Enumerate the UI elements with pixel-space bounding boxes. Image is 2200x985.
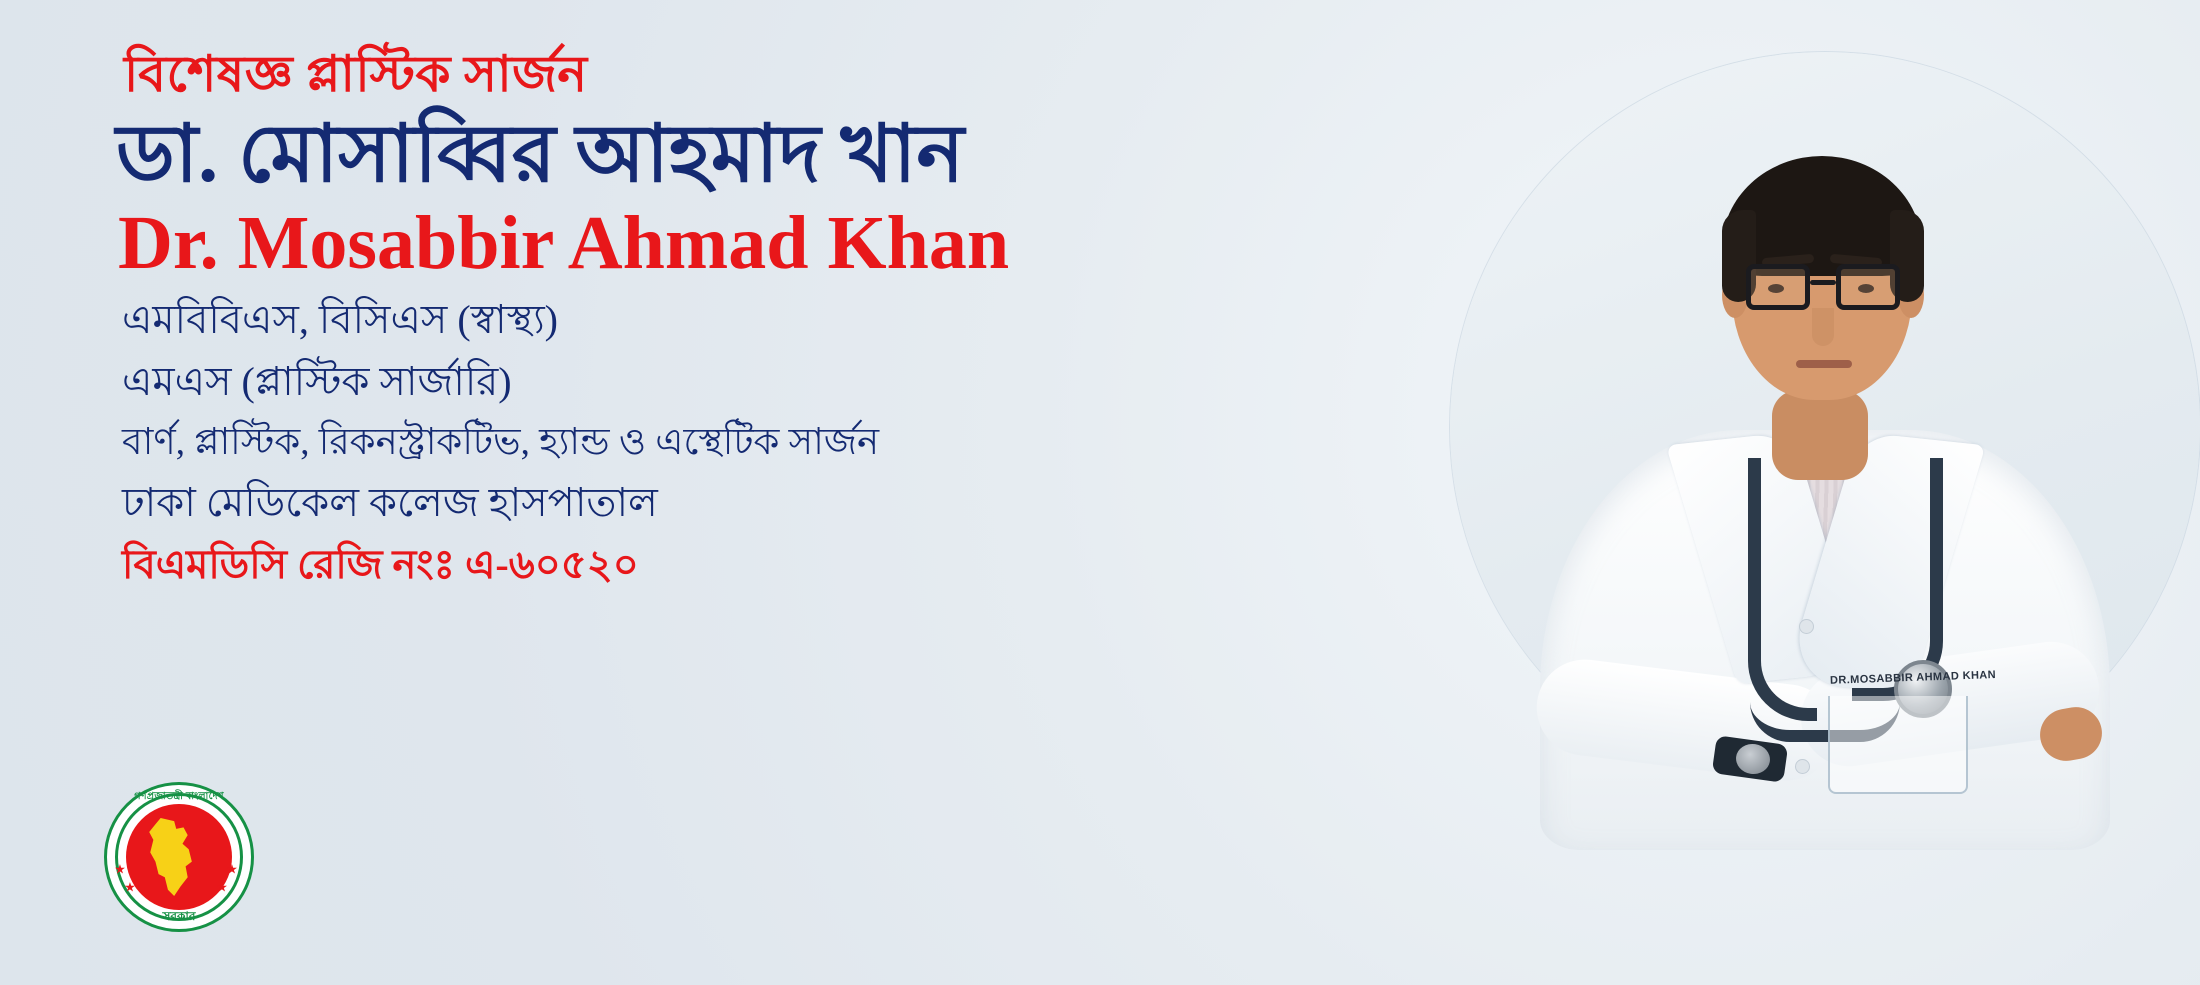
glasses-bridge bbox=[1810, 280, 1836, 285]
doctor-photo-area: DR.MOSABBIR AHMAD KHAN bbox=[1320, 0, 2200, 985]
star-glyph: ★ bbox=[226, 864, 238, 877]
star-glyph: ★ bbox=[124, 882, 136, 895]
doctor-info-block: বিশেষজ্ঞ প্লাস্টিক সার্জন ডা. মোসাব্বির … bbox=[120, 48, 1350, 585]
credential-line-2: এমএস (প্লাস্টিক সার্জারি) bbox=[122, 362, 1350, 402]
star-glyph: ★ bbox=[114, 864, 126, 877]
lens-left bbox=[1746, 264, 1810, 310]
doctor-name-english: Dr. Mosabbir Ahmad Khan bbox=[118, 202, 1350, 286]
credential-line-4: ঢাকা মেডিকেল কলেজ হাসপাতাল bbox=[122, 483, 1350, 523]
coat-button-bottom bbox=[1796, 760, 1809, 773]
coat-pocket bbox=[1828, 696, 1968, 794]
lens-right bbox=[1836, 264, 1900, 310]
credential-line-1: এমবিবিএস, বিসিএস (স্বাস্থ্য) bbox=[122, 300, 1350, 340]
mouth bbox=[1796, 360, 1852, 368]
stethoscope-left-tube bbox=[1748, 458, 1817, 721]
credential-line-3: বার্ণ, প্লাস্টিক, রিকনস্ট্রাকটিভ, হ্যান্… bbox=[122, 424, 1350, 461]
bangladesh-government-seal-icon: গণপ্রজাতন্ত্রী বাংলাদেশ সরকার ★ ★ ★ ★ bbox=[104, 782, 254, 932]
specialty-heading: বিশেষজ্ঞ প্লাস্টিক সার্জন bbox=[124, 48, 1350, 101]
coat-button-top bbox=[1800, 620, 1813, 633]
doctor-name-bengali: ডা. মোসাব্বির আহমাদ খান bbox=[116, 111, 1350, 201]
doctor-profile-banner: বিশেষজ্ঞ প্লাস্টিক সার্জন ডা. মোসাব্বির … bbox=[0, 0, 2200, 985]
nose bbox=[1812, 308, 1834, 346]
bmdc-registration: বিএমডিসি রেজি নংঃ এ-৬০৫২০ bbox=[122, 545, 1350, 585]
doctor-portrait-image: DR.MOSABBIR AHMAD KHAN bbox=[1500, 60, 2150, 850]
star-glyph: ★ bbox=[216, 882, 228, 895]
